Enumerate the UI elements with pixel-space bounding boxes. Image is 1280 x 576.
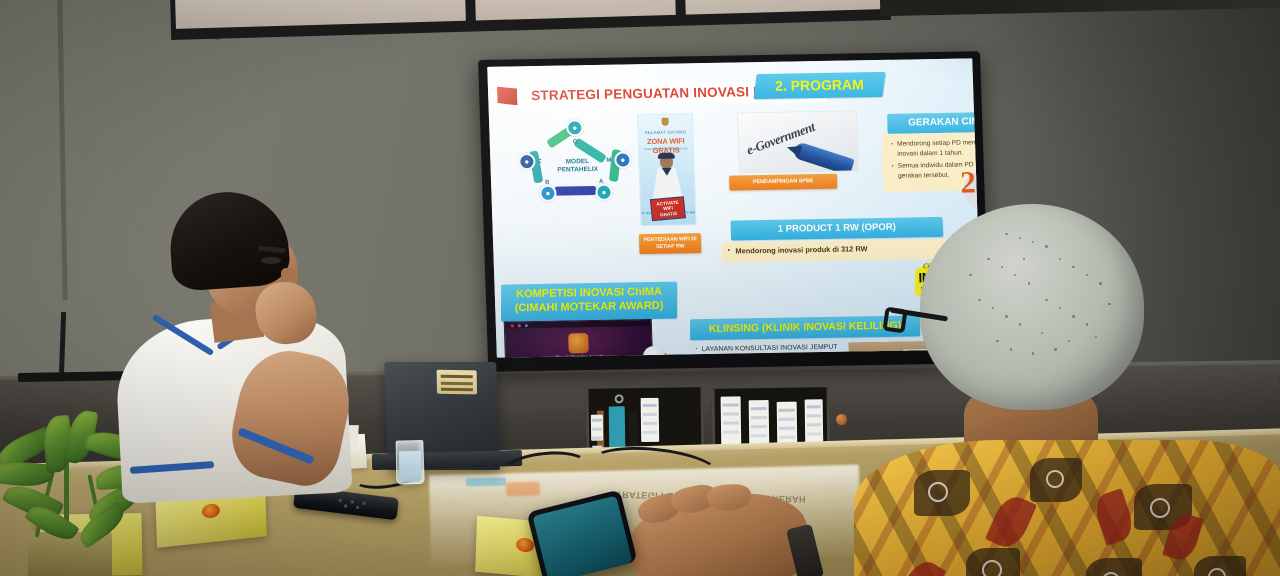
wall-seam xyxy=(57,0,67,300)
meeting-room-scene: STRATEGI PENGUATAN INOVASI DAERAH 2. PRO… xyxy=(0,0,1280,576)
attendee-left xyxy=(118,192,368,492)
pentahelix-letter-a: A xyxy=(599,179,604,185)
mascot-orb xyxy=(643,346,666,358)
pentahelix-letter-b: B xyxy=(545,180,550,186)
poster-signature: Dr. Dikdik S. Sodikin, S.E., M.M. Pj. Wa… xyxy=(641,210,695,220)
pentahelix-letter-g: G xyxy=(573,139,578,145)
slide-section-chip-label: 2. PROGRAM xyxy=(775,76,864,94)
batik-motif xyxy=(1091,488,1137,545)
pentahelix-diagram: ● ● ● ● ● G M C B A MODEL xyxy=(517,121,635,209)
official-portrait xyxy=(648,154,685,199)
klinsing-bullets: LAYANAN KONSULTASI INOVASI JEMPUT BOLA (… xyxy=(695,343,846,358)
phone-screen[interactable] xyxy=(533,496,633,576)
pentahelix-label: MODEL PENTAHELIX xyxy=(546,158,609,175)
attendee-right-batik-shirt xyxy=(854,440,1280,576)
window-pane xyxy=(475,0,676,20)
shelf-paper-label xyxy=(641,398,660,442)
batik-motif xyxy=(928,482,948,502)
attendee-right-glasses xyxy=(886,306,948,340)
cabinet-knob[interactable] xyxy=(836,414,847,425)
shelf-paper-label xyxy=(591,415,603,441)
glasses-lens xyxy=(882,307,907,334)
drinking-glass[interactable] xyxy=(396,440,425,485)
shelf-paper-label xyxy=(749,400,770,448)
cap-texture xyxy=(920,204,1144,410)
batik-motif xyxy=(896,556,947,576)
kompetisi-bar: KOMPETISI INOVASI ChIMA (CIMAHI MOTEKAR … xyxy=(501,282,677,322)
gerakan-bar: GERAKAN CIMAHI 2 IN 1 xyxy=(887,111,982,134)
screenshot-titlebar xyxy=(505,320,651,329)
flag-icon xyxy=(497,86,518,105)
wifi-zone-poster: SELAMAT DATANG ZONA WIFI GRATIS Kota Cim… xyxy=(637,113,697,226)
egovernment-image: e-Government xyxy=(737,110,859,173)
pen-icon xyxy=(792,141,854,173)
city-crest-icon xyxy=(662,118,669,126)
pentahelix-node-academic: ● xyxy=(539,185,557,202)
batik-motif xyxy=(985,491,1037,552)
pentahelix-letter-c: C xyxy=(537,159,542,165)
attendee-left-hair xyxy=(167,188,291,292)
batik-motif xyxy=(1150,498,1170,518)
pentahelix-node-media: ● xyxy=(614,151,632,168)
attendee-right-hand xyxy=(623,487,812,576)
portrait-cap xyxy=(658,153,675,159)
glass-water xyxy=(399,451,422,482)
kompetisi-bar-line2: (CIMAHI MOTEKAR AWARD) xyxy=(501,299,677,316)
wifi-provision-button[interactable]: PENYEDIAAN WIFI DI SETIAP RW xyxy=(639,233,702,254)
spbe-support-button[interactable]: PENDAMPINGAN SPBE xyxy=(729,174,837,191)
pentahelix-label-line2: PENTAHELIX xyxy=(547,166,609,175)
shelf-paper-label xyxy=(721,396,742,444)
chima-logo-icon xyxy=(568,333,589,353)
poster-line1: SELAMAT DATANG xyxy=(638,129,692,135)
pentahelix-edge xyxy=(554,186,596,196)
kompetisi-screenshot: Cimahi Motekar Award xyxy=(504,319,654,358)
attendee-left-eye xyxy=(261,257,281,264)
logo-digit-two: 2 xyxy=(960,166,977,197)
attendee-right-cap xyxy=(920,204,1144,410)
slide-section-chip: 2. PROGRAM xyxy=(753,72,885,99)
gerakan-bullet-1: Mendorong setiap PD menghasilkan minimal… xyxy=(889,137,982,159)
shelf-paper-label xyxy=(805,399,824,445)
chima-mascot: CIMAHI MOTEKAR AWARD xyxy=(636,342,679,358)
laptop-sticker xyxy=(437,370,477,395)
reflection-accent xyxy=(466,477,506,486)
pentahelix-node-business: ● xyxy=(595,184,613,201)
binder-ring-icon xyxy=(615,394,624,403)
batik-motif xyxy=(982,560,1002,576)
batik-motif xyxy=(1046,470,1064,488)
screenshot-title: Cimahi Motekar Award xyxy=(506,353,652,358)
pentahelix-node-government: ● xyxy=(566,119,584,136)
attendee-right xyxy=(878,196,1278,576)
clerestory-window xyxy=(170,0,891,40)
window-pane xyxy=(685,0,886,15)
finger xyxy=(706,483,752,512)
window-pane xyxy=(175,0,466,29)
klinsing-bullet-1: LAYANAN KONSULTASI INOVASI JEMPUT BOLA (… xyxy=(695,343,846,358)
